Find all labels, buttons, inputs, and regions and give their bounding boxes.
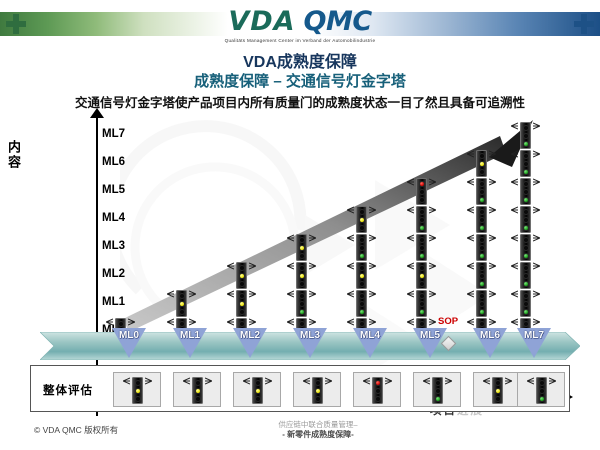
red-lamp [299, 293, 305, 299]
yellow-lamp [135, 388, 141, 394]
light-ray-icon [429, 206, 436, 215]
y-axis-tick-ml3: ML3 [102, 240, 142, 252]
light-ray-icon [505, 377, 512, 386]
light-ray-icon [533, 206, 540, 215]
green-lamp [419, 253, 425, 259]
red-lamp [523, 209, 529, 215]
light-ray-icon [189, 318, 196, 327]
traffic-light-housing [236, 262, 247, 289]
assessment-light-ml6 [489, 377, 506, 404]
green-lamp [299, 309, 305, 315]
traffic-light-housing [432, 377, 443, 404]
yellow-lamp [239, 301, 245, 307]
red-lamp [359, 237, 365, 243]
green-lamp [479, 225, 485, 231]
footer-tagline-line2: - 新零件成熟度保障- [228, 430, 408, 441]
assessment-light-ml3 [309, 377, 326, 404]
red-lamp [479, 293, 485, 299]
green-lamp [359, 253, 365, 259]
yellow-lamp [523, 301, 529, 307]
traffic-light-housing [356, 234, 367, 261]
light-ray-icon [533, 262, 540, 271]
light-ray-icon [511, 262, 518, 271]
yellow-lamp [419, 301, 425, 307]
milestone-marker-ml0[interactable]: ML0 [112, 328, 146, 358]
yellow-lamp [359, 245, 365, 251]
yellow-lamp [419, 189, 425, 195]
light-ray-icon [511, 234, 518, 243]
overall-assessment-label: 整体评估 [43, 382, 93, 398]
traffic-light-housing [356, 262, 367, 289]
light-ray-icon [287, 318, 294, 327]
green-lamp [523, 225, 529, 231]
light-ray-icon [511, 318, 518, 327]
green-lamp [523, 197, 529, 203]
milestone-marker-ml1[interactable]: ML1 [173, 328, 207, 358]
yellow-lamp [523, 273, 529, 279]
light-ray-icon [303, 377, 310, 386]
red-lamp [419, 265, 425, 271]
red-lamp [523, 237, 529, 243]
traffic-light-housing [192, 377, 203, 404]
assessment-cell-ml4 [353, 372, 401, 407]
red-lamp [419, 321, 425, 327]
red-lamp [359, 209, 365, 215]
y-axis-tick-ml6: ML6 [102, 156, 142, 168]
traffic-light-housing [492, 377, 503, 404]
yellow-lamp [255, 388, 261, 394]
green-lamp [359, 225, 365, 231]
green-lamp [495, 396, 501, 402]
traffic-light-ml5-3 [413, 234, 430, 261]
green-lamp [479, 197, 485, 203]
light-ray-icon [511, 122, 518, 131]
green-lamp [299, 281, 305, 287]
light-ray-icon [227, 262, 234, 271]
light-ray-icon [533, 178, 540, 187]
green-lamp [239, 309, 245, 315]
traffic-light-ml7-1 [517, 290, 534, 317]
traffic-light-housing [236, 290, 247, 317]
red-lamp [523, 265, 529, 271]
footer-tagline-line1: 供应链中联合质量管理– [228, 420, 408, 430]
light-ray-icon [227, 318, 234, 327]
light-ray-icon [467, 178, 474, 187]
light-ray-icon [287, 290, 294, 299]
red-lamp [299, 321, 305, 327]
light-ray-icon [347, 206, 354, 215]
light-ray-icon [309, 234, 316, 243]
traffic-light-housing [416, 234, 427, 261]
green-lamp [523, 281, 529, 287]
red-lamp [299, 265, 305, 271]
sop-label: SOP [438, 316, 458, 327]
green-lamp [195, 396, 201, 402]
light-ray-icon [183, 377, 190, 386]
assessment-cell-ml2 [233, 372, 281, 407]
assessment-light-ml2 [249, 377, 266, 404]
yellow-lamp [479, 301, 485, 307]
light-ray-icon [309, 290, 316, 299]
light-ray-icon [347, 290, 354, 299]
red-lamp [419, 181, 425, 187]
yellow-lamp [359, 301, 365, 307]
light-ray-icon [467, 234, 474, 243]
red-lamp [179, 293, 185, 299]
light-ray-icon [467, 206, 474, 215]
traffic-light-housing [416, 178, 427, 205]
red-lamp [239, 293, 245, 299]
traffic-light-housing [520, 262, 531, 289]
red-lamp [539, 380, 545, 386]
light-ray-icon [511, 178, 518, 187]
red-lamp [299, 237, 305, 243]
red-lamp [419, 293, 425, 299]
red-lamp [479, 153, 485, 159]
logo-qmc-text: QMC [304, 6, 372, 37]
traffic-light-housing [252, 377, 263, 404]
red-lamp [479, 181, 485, 187]
overall-assessment-panel: 整体评估 [30, 365, 570, 412]
traffic-light-ml3-2 [293, 262, 310, 289]
assessment-cell-ml3 [293, 372, 341, 407]
light-ray-icon [533, 150, 540, 159]
light-ray-icon [407, 262, 414, 271]
light-ray-icon [533, 234, 540, 243]
light-ray-icon [363, 377, 370, 386]
light-ray-icon [533, 122, 540, 131]
light-ray-icon [489, 178, 496, 187]
traffic-light-housing [520, 234, 531, 261]
light-ray-icon [287, 234, 294, 243]
light-ray-icon [407, 234, 414, 243]
traffic-light-ml1-1 [173, 290, 190, 317]
milestone-marker-label: ML0 [112, 330, 146, 341]
red-lamp [359, 321, 365, 327]
traffic-light-housing [416, 290, 427, 317]
assessment-light-ml7 [533, 377, 550, 404]
light-ray-icon [249, 318, 256, 327]
y-axis-tick-ml4: ML4 [102, 212, 142, 224]
green-lamp [315, 396, 321, 402]
light-ray-icon [407, 290, 414, 299]
y-axis-tick-ml7: ML7 [102, 128, 142, 140]
traffic-light-ml4-2 [353, 262, 370, 289]
light-ray-icon [483, 377, 490, 386]
red-lamp [479, 265, 485, 271]
light-ray-icon [369, 262, 376, 271]
light-ray-icon [429, 318, 436, 327]
traffic-light-ml6-4 [473, 206, 490, 233]
yellow-lamp [479, 189, 485, 195]
yellow-lamp [299, 245, 305, 251]
yellow-lamp [419, 245, 425, 251]
traffic-light-housing [296, 290, 307, 317]
yellow-lamp [435, 388, 441, 394]
traffic-light-ml7-4 [517, 206, 534, 233]
traffic-light-housing [476, 290, 487, 317]
traffic-light-housing [476, 262, 487, 289]
light-ray-icon [549, 377, 556, 386]
light-ray-icon [467, 290, 474, 299]
y-axis-tick-ml2: ML2 [102, 268, 142, 280]
red-lamp [359, 293, 365, 299]
traffic-light-housing [176, 290, 187, 317]
red-lamp [118, 321, 124, 327]
copyright-text: © VDA QMC 版权所有 [34, 424, 118, 436]
traffic-light-ml3-1 [293, 290, 310, 317]
red-lamp [375, 380, 381, 386]
traffic-light-housing [356, 290, 367, 317]
traffic-light-ml7-5 [517, 178, 534, 205]
yellow-lamp [479, 245, 485, 251]
traffic-light-housing [296, 262, 307, 289]
yellow-lamp [179, 301, 185, 307]
milestone-bar: ML0ML1ML2ML3ML4ML5ML6ML7 SOP [40, 332, 580, 360]
green-lamp [419, 225, 425, 231]
traffic-light-housing [520, 290, 531, 317]
light-ray-icon [347, 234, 354, 243]
light-ray-icon [369, 206, 376, 215]
light-ray-icon [527, 377, 534, 386]
red-lamp [195, 380, 201, 386]
assessment-light-ml5 [429, 377, 446, 404]
light-ray-icon [385, 377, 392, 386]
light-ray-icon [489, 290, 496, 299]
yellow-lamp [495, 388, 501, 394]
red-lamp [419, 209, 425, 215]
light-ray-icon [243, 377, 250, 386]
traffic-light-housing [476, 150, 487, 177]
traffic-light-ml2-1 [233, 290, 250, 317]
light-ray-icon [309, 262, 316, 271]
light-ray-icon [369, 234, 376, 243]
yellow-lamp [523, 161, 529, 167]
light-ray-icon [189, 290, 196, 299]
yellow-lamp [523, 189, 529, 195]
yellow-lamp [195, 388, 201, 394]
maturity-pyramid-chart: 内容 ML7ML6ML5ML4ML3ML2ML1ML0 项目进展 [0, 110, 600, 420]
light-ray-icon [489, 262, 496, 271]
green-lamp [299, 253, 305, 259]
yellow-lamp [359, 217, 365, 223]
light-ray-icon [467, 318, 474, 327]
red-lamp [359, 265, 365, 271]
green-lamp [479, 169, 485, 175]
red-lamp [523, 293, 529, 299]
light-ray-icon [407, 206, 414, 215]
light-ray-icon [227, 290, 234, 299]
y-axis-arrow-icon [90, 108, 104, 118]
yellow-lamp [419, 217, 425, 223]
red-lamp [523, 125, 529, 131]
yellow-lamp [523, 245, 529, 251]
green-lamp [523, 141, 529, 147]
traffic-light-ml6-2 [473, 262, 490, 289]
light-ray-icon [511, 206, 518, 215]
traffic-light-ml6-1 [473, 290, 490, 317]
vda-qmc-logo: VDAQMC [0, 8, 600, 35]
light-ray-icon [489, 150, 496, 159]
traffic-light-housing [520, 206, 531, 233]
green-lamp [523, 309, 529, 315]
light-ray-icon [249, 262, 256, 271]
assessment-cell-ml0 [113, 372, 161, 407]
yellow-lamp [299, 273, 305, 279]
traffic-light-ml7-6 [517, 150, 534, 177]
red-lamp [255, 380, 261, 386]
logo-vda-text: VDA [228, 6, 295, 37]
red-lamp [435, 380, 441, 386]
milestone-marker-ml2[interactable]: ML2 [233, 328, 267, 358]
yellow-lamp [239, 273, 245, 279]
light-ray-icon [429, 234, 436, 243]
light-ray-icon [369, 318, 376, 327]
yellow-lamp [539, 388, 545, 394]
yellow-lamp [479, 161, 485, 167]
yellow-lamp [315, 388, 321, 394]
light-ray-icon [167, 318, 174, 327]
red-lamp [239, 321, 245, 327]
red-lamp [239, 265, 245, 271]
light-ray-icon [533, 318, 540, 327]
light-ray-icon [407, 178, 414, 187]
traffic-light-ml4-4 [353, 206, 370, 233]
yellow-lamp [479, 273, 485, 279]
yellow-lamp [419, 273, 425, 279]
assessment-cell-ml1 [173, 372, 221, 407]
red-lamp [479, 321, 485, 327]
milestone-marker-label: ML2 [233, 330, 267, 341]
red-lamp [179, 321, 185, 327]
green-lamp [435, 396, 441, 402]
assessment-light-ml4 [369, 377, 386, 404]
traffic-light-housing [520, 122, 531, 149]
traffic-light-housing [416, 262, 427, 289]
green-lamp [419, 281, 425, 287]
traffic-light-ml7-7 [517, 122, 534, 149]
green-lamp [419, 197, 425, 203]
logo-subtitle: Qualitäts Management Center im Verband d… [0, 38, 600, 43]
milestone-marker-label: ML6 [473, 330, 507, 341]
green-lamp [359, 309, 365, 315]
red-lamp [523, 321, 529, 327]
light-ray-icon [167, 290, 174, 299]
yellow-lamp [359, 273, 365, 279]
green-lamp [523, 253, 529, 259]
light-ray-icon [511, 290, 518, 299]
traffic-light-housing [312, 377, 323, 404]
footer-tagline: 供应链中联合质量管理– - 新零件成熟度保障- [228, 420, 408, 441]
milestone-marker-label: ML4 [353, 330, 387, 341]
light-ray-icon [249, 290, 256, 299]
green-lamp [419, 309, 425, 315]
traffic-light-housing [372, 377, 383, 404]
green-lamp [479, 253, 485, 259]
milestone-marker-label: ML5 [413, 330, 447, 341]
assessment-light-ml1 [189, 377, 206, 404]
light-ray-icon [325, 377, 332, 386]
green-lamp [479, 309, 485, 315]
traffic-light-ml4-1 [353, 290, 370, 317]
green-lamp [539, 396, 545, 402]
y-axis-tick-ml1: ML1 [102, 296, 142, 308]
green-lamp [359, 281, 365, 287]
y-axis-label: 内容 [4, 140, 23, 170]
light-ray-icon [511, 150, 518, 159]
milestone-marker-ml4[interactable]: ML4 [353, 328, 387, 358]
milestone-marker-ml6[interactable]: ML6 [473, 328, 507, 358]
red-lamp [135, 380, 141, 386]
traffic-light-housing [476, 206, 487, 233]
light-ray-icon [467, 262, 474, 271]
light-ray-icon [369, 290, 376, 299]
yellow-lamp [523, 133, 529, 139]
red-lamp [479, 237, 485, 243]
yellow-lamp [479, 217, 485, 223]
yellow-lamp [375, 388, 381, 394]
green-lamp [479, 281, 485, 287]
red-lamp [479, 209, 485, 215]
light-ray-icon [489, 234, 496, 243]
traffic-light-ml2-2 [233, 262, 250, 289]
light-ray-icon [429, 290, 436, 299]
light-ray-icon [429, 262, 436, 271]
light-ray-icon [489, 206, 496, 215]
green-lamp [179, 309, 185, 315]
assessment-cell-ml5 [413, 372, 461, 407]
traffic-light-housing [356, 206, 367, 233]
light-ray-icon [467, 150, 474, 159]
light-ray-icon [347, 318, 354, 327]
light-ray-icon [423, 377, 430, 386]
light-ray-icon [265, 377, 272, 386]
traffic-light-ml5-5 [413, 178, 430, 205]
assessment-cell-ml6 [473, 372, 521, 407]
red-lamp [495, 380, 501, 386]
traffic-light-ml6-3 [473, 234, 490, 261]
light-ray-icon [123, 377, 130, 386]
traffic-light-ml4-3 [353, 234, 370, 261]
green-lamp [239, 281, 245, 287]
traffic-light-ml7-3 [517, 234, 534, 261]
light-ray-icon [445, 377, 452, 386]
traffic-light-housing [520, 178, 531, 205]
page-subtitle: 成熟度保障 – 交通信号灯金字塔 [0, 70, 600, 91]
milestone-marker-ml7[interactable]: ML7 [517, 328, 551, 358]
yellow-lamp [523, 217, 529, 223]
red-lamp [523, 153, 529, 159]
green-lamp [523, 169, 529, 175]
red-lamp [419, 237, 425, 243]
traffic-light-housing [296, 234, 307, 261]
milestone-marker-label: ML7 [517, 330, 551, 341]
green-lamp [135, 396, 141, 402]
light-ray-icon [205, 377, 212, 386]
milestone-marker-ml3[interactable]: ML3 [293, 328, 327, 358]
milestone-marker-label: ML1 [173, 330, 207, 341]
traffic-light-ml5-2 [413, 262, 430, 289]
y-axis-tick-ml5: ML5 [102, 184, 142, 196]
traffic-light-ml3-3 [293, 234, 310, 261]
milestone-marker-label: ML3 [293, 330, 327, 341]
light-ray-icon [287, 262, 294, 271]
yellow-lamp [299, 301, 305, 307]
green-lamp [255, 396, 261, 402]
assessment-cell-ml7 [517, 372, 565, 407]
traffic-light-housing [416, 206, 427, 233]
light-ray-icon [347, 262, 354, 271]
